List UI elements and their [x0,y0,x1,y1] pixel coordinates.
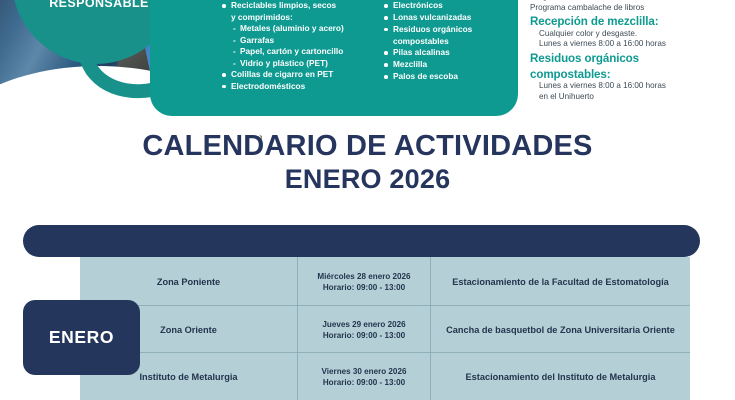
cell-schedule-text: Horario: 09:00 - 13:00 [317,282,410,293]
info-heading: compostables: [530,68,730,82]
accepted-material-item: Electrodomésticos [222,81,374,92]
cell-schedule-text: Horario: 09:00 - 13:00 [322,377,407,388]
cell-zone: Zona Poniente [80,258,297,305]
info-line: en el Unihuerto [530,92,730,103]
cell-date: Viernes 30 enero 2026 Horario: 09:00 - 1… [298,353,430,400]
cell-date: Miércoles 28 enero 2026 Horario: 09:00 -… [298,258,430,305]
accepted-material-item: compostables [384,36,512,47]
info-line: Lunes a viernes 8:00 a 16:00 horas [530,39,730,50]
accepted-list-column-2: ElectrónicosLonas vulcanizadasResiduos o… [384,0,512,112]
cell-place: Cancha de basquetbol de Zona Universitar… [431,306,690,353]
accepted-material-item: Reciclables limpios, secos [222,0,374,11]
title-line-1: CALENDARIO DE ACTIVIDADES [0,130,735,163]
info-heading: Recepción de mezclilla: [530,15,730,29]
top-banner: RESPONSABLE Reciclables limpios, secosy … [0,0,735,118]
accepted-materials-columns: Reciclables limpios, secosy comprimidos:… [222,0,522,112]
accepted-material-item: Electrónicos [384,0,512,11]
cell-date-text: Miércoles 28 enero 2026 [317,271,410,282]
cell-place: Estacionamiento del Instituto de Metalur… [431,353,690,400]
cell-schedule-text: Horario: 09:00 - 13:00 [322,330,405,341]
accepted-material-item: Garrafas [222,35,374,46]
programs-info-column: Programa reutronicPrograma cambalache de… [530,0,730,102]
info-line: Cualquier color y desgaste. [530,29,730,40]
accepted-material-item: Colillas de cigarro en PET [222,69,374,80]
cell-place: Estacionamiento de la Facultad de Estoma… [431,258,690,305]
poster-canvas: RESPONSABLE Reciclables limpios, secosy … [0,0,735,400]
table-header-bar [23,225,700,257]
accepted-list-column-1: Reciclables limpios, secosy comprimidos:… [222,0,374,112]
info-line: Programa cambalache de libros [530,3,730,14]
accepted-material-item: Palos de escoba [384,71,512,82]
table-row[interactable]: Zona Poniente Miércoles 28 enero 2026 Ho… [80,258,690,305]
accepted-material-item: y comprimidos: [222,12,374,23]
cell-date-text: Jueves 29 enero 2026 [322,319,405,330]
accepted-material-item: Pilas alcalinas [384,47,512,58]
accepted-material-item: Lonas vulcanizadas [384,12,512,23]
logo-text: RESPONSABLE [34,0,164,10]
page-title: CALENDARIO DE ACTIVIDADES ENERO 2026 [0,130,735,195]
cell-date-text: Viernes 30 enero 2026 [322,366,407,377]
month-badge: ENERO [23,300,140,375]
info-line: Lunes a viernes 8:00 a 16:00 horas [530,81,730,92]
accepted-material-item: Vidrio y plástico (PET) [222,58,374,69]
info-heading: Residuos orgánicos [530,52,730,66]
accepted-material-item: Residuos orgánicos [384,24,512,35]
title-line-2: ENERO 2026 [0,163,735,195]
cell-date: Jueves 29 enero 2026 Horario: 09:00 - 13… [298,306,430,353]
table-row[interactable]: Instituto de Metalurgia Viernes 30 enero… [80,353,690,400]
table-row[interactable]: Zona Oriente Jueves 29 enero 2026 Horari… [80,306,690,353]
accepted-material-item: Papel, cartón y cartoncillo [222,46,374,57]
accepted-material-item: Metales (aluminio y acero) [222,23,374,34]
accepted-material-item: Mezclilla [384,59,512,70]
schedule-table: Zona Poniente Miércoles 28 enero 2026 Ho… [80,257,690,400]
